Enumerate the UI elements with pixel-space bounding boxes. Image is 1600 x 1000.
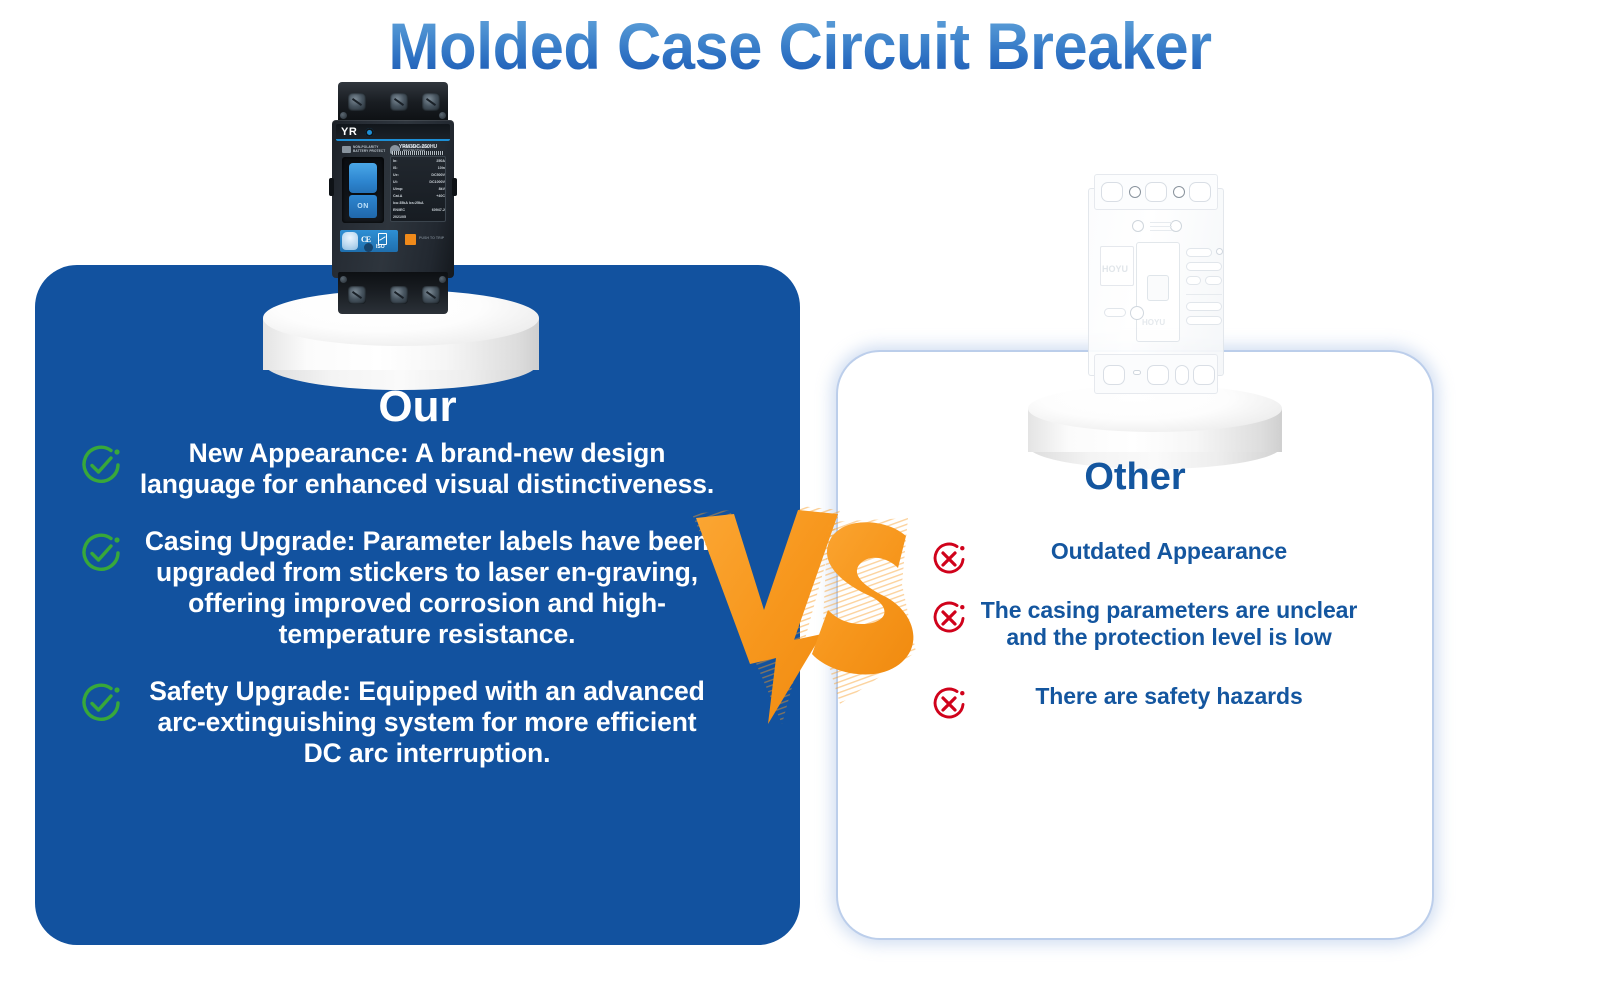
terminal-screw-icon xyxy=(348,93,366,111)
list-item-label: The casing parameters are unclear and th… xyxy=(978,597,1360,651)
list-item-label: There are safety hazards xyxy=(978,683,1360,710)
our-product-image: YR NON-POLARITY BATTERY PROTECT PHOTOVOL… xyxy=(332,82,454,314)
ghost-top-terminal-block xyxy=(1094,174,1218,210)
ghost-lever-assembly xyxy=(1136,242,1180,342)
list-item-label: Outdated Appearance xyxy=(978,538,1360,565)
breaker-bottom-terminal-block xyxy=(338,272,448,314)
ghost-lever-knob xyxy=(1147,275,1169,301)
spec-value: 8kV xyxy=(439,187,445,192)
ghost-terminal-icon xyxy=(1175,365,1189,385)
ghost-label-pill xyxy=(1186,262,1222,271)
list-item: There are safety hazards xyxy=(930,683,1360,710)
feature-label-battery: NON-POLARITY BATTERY PROTECT xyxy=(353,145,387,153)
other-heading: Other xyxy=(838,456,1432,499)
breaker-toggle-handle[interactable] xyxy=(349,163,377,193)
vs-badge xyxy=(672,492,918,728)
spec-label: In: xyxy=(393,159,397,164)
list-item: Casing Upgrade: Parameter labels have be… xyxy=(78,526,718,650)
case-screw-icon xyxy=(340,112,347,119)
terminal-screw-icon xyxy=(390,93,408,111)
housing-side-rib xyxy=(452,178,457,196)
iso-mark-label: ISO xyxy=(376,244,385,250)
terminal-screw-icon xyxy=(390,286,408,304)
ghost-terminal-icon xyxy=(1103,365,1125,385)
terminal-screw-icon xyxy=(422,93,440,111)
spec-value: DC500V xyxy=(431,173,445,178)
spec-label: IS: xyxy=(393,166,398,171)
ghost-terminal-icon xyxy=(1147,365,1169,385)
other-product-image: HOYU HOYU xyxy=(1088,168,1224,396)
ghost-label-pill xyxy=(1186,302,1222,311)
cross-circle-icon xyxy=(930,599,968,637)
housing-side-rib xyxy=(329,178,334,196)
ghost-terminal-icon xyxy=(1189,182,1211,202)
our-heading: Our xyxy=(35,382,800,432)
ghost-label-pill xyxy=(1186,316,1222,325)
ghost-terminal-icon xyxy=(1145,182,1167,202)
mascot-icon xyxy=(342,232,358,250)
ghost-button-icon xyxy=(1130,306,1144,320)
spec-value: 10In xyxy=(438,166,445,171)
terminal-screw-icon xyxy=(422,286,440,304)
spec-value: DC1000V xyxy=(429,180,445,185)
ghost-label-pill xyxy=(1186,276,1201,285)
spec-label: Ui: xyxy=(393,180,398,185)
spec-value: +40C xyxy=(436,194,445,199)
ghost-label-pill xyxy=(1104,308,1126,317)
spec-label: Icu:35kA Ics:25kA xyxy=(393,201,424,206)
spec-label: Cat.A xyxy=(393,194,402,199)
breaker-toggle-well: ON xyxy=(342,157,384,223)
list-item: New Appearance: A brand-new design langu… xyxy=(78,438,718,500)
ghost-terminal-icon xyxy=(1173,186,1185,198)
check-circle-icon xyxy=(78,442,124,488)
check-circle-icon xyxy=(78,530,124,576)
list-item-label: Casing Upgrade: Parameter labels have be… xyxy=(136,526,718,650)
ghost-terminal-icon xyxy=(1129,186,1141,198)
certification-panel: CE ISO xyxy=(340,230,398,252)
breaker-toggle-state-label: ON xyxy=(349,195,377,218)
our-feature-list: New Appearance: A brand-new design langu… xyxy=(78,438,718,795)
spec-label: Uimp: xyxy=(393,187,403,192)
ghost-detail-line xyxy=(1150,222,1172,223)
ghost-detail-line xyxy=(1150,230,1172,231)
spec-value: 60947-2 xyxy=(432,208,445,213)
vs-letter-v xyxy=(696,510,838,724)
push-to-trip-button[interactable] xyxy=(405,234,416,245)
list-item: Outdated Appearance xyxy=(930,538,1360,565)
ghost-brand-text-secondary: HOYU xyxy=(1142,318,1165,327)
spec-plate: In:250A IS:10In Ue:DC500V Ui:DC1000V Uim… xyxy=(390,156,446,222)
terminal-screw-icon xyxy=(348,286,366,304)
ghost-screw-icon xyxy=(1132,220,1144,232)
battery-protect-icon xyxy=(342,146,351,153)
ghost-indicator-icon xyxy=(1216,248,1223,255)
ghost-terminal-icon xyxy=(1133,370,1141,375)
ghost-label-pill xyxy=(1186,248,1212,257)
breaker-top-terminal-block xyxy=(338,82,448,122)
case-screw-icon xyxy=(439,112,446,119)
list-item: The casing parameters are unclear and th… xyxy=(930,597,1360,651)
check-circle-icon xyxy=(78,680,124,726)
spec-label: EN/IEC xyxy=(393,208,405,213)
list-item-label: New Appearance: A brand-new design langu… xyxy=(136,438,718,500)
list-item-label: Safety Upgrade: Equipped with an advance… xyxy=(136,676,718,769)
brand-logo-mark-icon xyxy=(365,128,374,137)
ghost-label-pill xyxy=(1205,276,1222,285)
cross-circle-icon xyxy=(930,685,968,723)
ghost-terminal-icon xyxy=(1101,182,1123,202)
spec-label: 2021/05 xyxy=(393,215,406,220)
ghost-bottom-terminal-block xyxy=(1094,354,1218,394)
case-screw-icon xyxy=(340,276,347,283)
spec-value: 250A xyxy=(436,159,445,164)
iso-badge-icon xyxy=(364,243,373,252)
barcode-icon xyxy=(392,151,444,155)
page-title: Molded Case Circuit Breaker xyxy=(56,8,1544,84)
push-to-trip-label: PUSH TO TRIP xyxy=(419,236,444,240)
ghost-terminal-icon xyxy=(1193,365,1215,385)
ghost-detail-line xyxy=(1186,294,1222,295)
model-number-label: YRM3DC-250HU xyxy=(390,144,446,150)
case-screw-icon xyxy=(439,276,446,283)
brand-logo-text: YR xyxy=(341,125,357,140)
spec-label: Ue: xyxy=(393,173,399,178)
list-item: Safety Upgrade: Equipped with an advance… xyxy=(78,676,718,769)
cross-circle-icon xyxy=(930,540,968,578)
ghost-brand-text: HOYU xyxy=(1102,264,1128,274)
other-drawback-list: Outdated Appearance The casing parameter… xyxy=(930,538,1360,742)
ghost-detail-line xyxy=(1150,226,1172,227)
